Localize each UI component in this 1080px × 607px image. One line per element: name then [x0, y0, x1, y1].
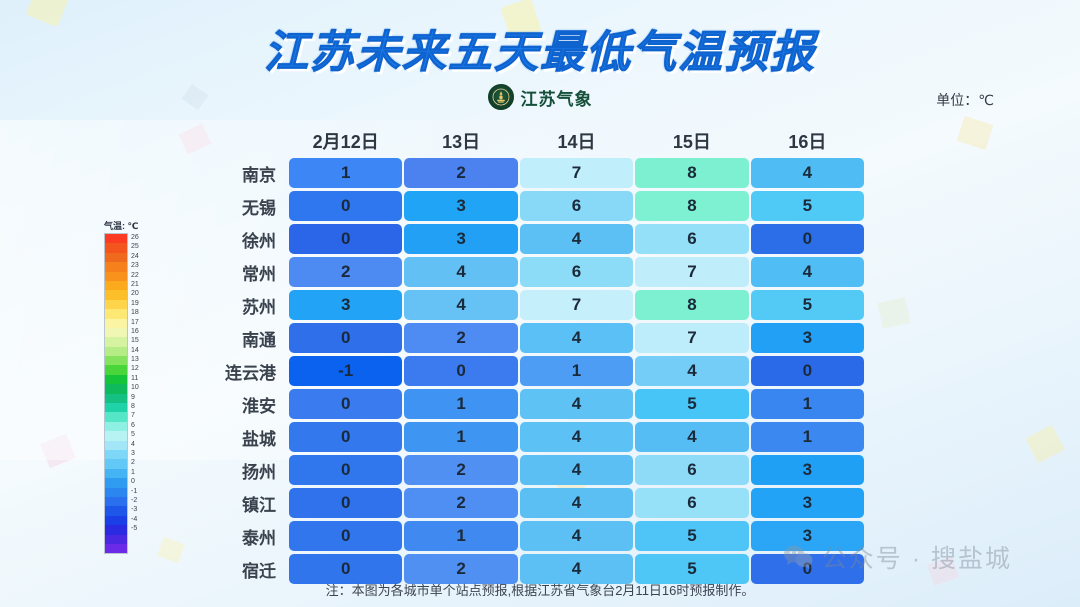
- table-row: 泰州01453: [195, 520, 865, 552]
- temperature-cell: 5: [751, 191, 864, 221]
- temperature-cell: 1: [404, 422, 517, 452]
- temperature-cell: 4: [404, 290, 517, 320]
- table-row: 徐州03460: [195, 223, 865, 255]
- colorbar-swatch: [105, 459, 127, 468]
- city-label: 宿迁: [195, 557, 288, 582]
- temperature-cell: 5: [635, 389, 748, 419]
- wechat-icon: [783, 544, 813, 570]
- colorbar-swatch: [105, 290, 127, 299]
- colorbar-swatch: [105, 253, 127, 262]
- temperature-cell: 0: [404, 356, 517, 386]
- page-title: 江苏未来五天最低气温预报: [0, 16, 1080, 80]
- colorbar-swatch: [105, 525, 127, 534]
- colorbar-tick-label: 17: [131, 318, 139, 327]
- temperature-cell: 2: [404, 158, 517, 188]
- colorbar-tick-label: 18: [131, 308, 139, 317]
- column-header: 14日: [519, 128, 634, 154]
- temperature-cell: 0: [751, 224, 864, 254]
- city-label: 苏州: [195, 293, 288, 318]
- temperature-cell: 2: [404, 488, 517, 518]
- colorbar-tick-label: 8: [131, 402, 139, 411]
- colorbar-tick-label: 3: [131, 449, 139, 458]
- colorbar-swatch: [105, 535, 127, 544]
- colorbar-swatch: [105, 243, 127, 252]
- colorbar-tick-label: 2: [131, 458, 139, 467]
- temperature-cell: 7: [520, 158, 633, 188]
- temperature-cell: 6: [635, 488, 748, 518]
- temperature-cell: 1: [520, 356, 633, 386]
- watermark-text: 公众号 · 搜盐城: [822, 539, 1012, 575]
- temperature-cell: 4: [520, 389, 633, 419]
- weather-bureau-emblem-icon: [488, 84, 514, 110]
- table-row: 苏州34785: [195, 289, 865, 321]
- colorbar-ticks: 2625242322212019181716151413121110987654…: [128, 233, 139, 554]
- colorbar-tick-label: 9: [131, 393, 139, 402]
- colorbar-tick-label: -4: [131, 515, 139, 524]
- temperature-cell: 6: [635, 455, 748, 485]
- colorbar-swatch: [105, 300, 127, 309]
- temperature-cell: 4: [520, 521, 633, 551]
- colorbar-swatch: [105, 234, 127, 243]
- colorbar-tick-label: 11: [131, 374, 139, 383]
- table-row: 南通02473: [195, 322, 865, 354]
- forecast-table: 2月12日 13日 14日 15日 16日 南京12784无锡03685徐州03…: [195, 125, 865, 586]
- temperature-cell: 0: [751, 356, 864, 386]
- table-row: 镇江02463: [195, 487, 865, 519]
- city-label: 徐州: [195, 227, 288, 252]
- colorbar-swatch: [105, 431, 127, 440]
- colorbar-swatch: [105, 544, 127, 553]
- temperature-cell: 1: [751, 389, 864, 419]
- temperature-cell: 1: [289, 158, 402, 188]
- city-label: 扬州: [195, 458, 288, 483]
- temperature-cell: 6: [635, 224, 748, 254]
- colorbar-swatch: [105, 403, 127, 412]
- colorbar-swatch: [105, 337, 127, 346]
- column-header: 2月12日: [288, 128, 403, 154]
- temperature-cell: 4: [520, 224, 633, 254]
- table-row: 南京12784: [195, 157, 865, 189]
- temperature-cell: 0: [289, 521, 402, 551]
- colorbar-tick-label: 12: [131, 364, 139, 373]
- temperature-cell: 4: [404, 257, 517, 287]
- temperature-cell: 8: [635, 158, 748, 188]
- city-label: 常州: [195, 260, 288, 285]
- colorbar-tick-label: -5: [131, 524, 139, 533]
- confetti-shape: [40, 434, 76, 469]
- watermark: 公众号 · 搜盐城: [783, 539, 1012, 575]
- table-row: 连云港-10140: [195, 355, 865, 387]
- temperature-cell: 4: [520, 422, 633, 452]
- colorbar-tick-label: 25: [131, 242, 139, 251]
- colorbar-swatch: [105, 384, 127, 393]
- column-header: 13日: [403, 128, 518, 154]
- colorbar-swatch: [105, 356, 127, 365]
- colorbar-swatch: [105, 506, 127, 515]
- colorbar-swatch: [105, 450, 127, 459]
- colorbar-swatch: [105, 516, 127, 525]
- column-header: 16日: [750, 128, 865, 154]
- city-label: 盐城: [195, 425, 288, 450]
- brand-block: 江苏气象: [0, 84, 1080, 110]
- colorbar-swatch: [105, 497, 127, 506]
- colorbar-tick-label: 23: [131, 261, 139, 270]
- colorbar-gradient: [104, 233, 128, 554]
- temperature-cell: 8: [635, 191, 748, 221]
- footer-note: 注：本图为各城市单个站点预报,根据江苏省气象台2月11日16时预报制作。: [0, 580, 1080, 599]
- colorbar-tick-label: 16: [131, 327, 139, 336]
- colorbar-swatch: [105, 272, 127, 281]
- table-row: 盐城01441: [195, 421, 865, 453]
- temperature-cell: 1: [404, 389, 517, 419]
- colorbar-tick-label: 14: [131, 346, 139, 355]
- confetti-shape: [878, 297, 911, 328]
- temperature-cell: 0: [289, 389, 402, 419]
- colorbar-tick-label: 26: [131, 233, 139, 242]
- temperature-cell: 8: [635, 290, 748, 320]
- temperature-cell: 1: [751, 422, 864, 452]
- temperature-cell: 3: [404, 191, 517, 221]
- colorbar-tick-label: 4: [131, 440, 139, 449]
- colorbar-tick-label: 20: [131, 289, 139, 298]
- table-row: 无锡03685: [195, 190, 865, 222]
- temperature-colorbar: 气温: ℃ 2625242322212019181716151413121110…: [104, 219, 158, 554]
- table-row: 淮安01451: [195, 388, 865, 420]
- colorbar-tick-label: 19: [131, 299, 139, 308]
- colorbar-tick-label: 7: [131, 411, 139, 420]
- colorbar-swatch: [105, 328, 127, 337]
- colorbar-tick-label: -3: [131, 505, 139, 514]
- table-row: 常州24674: [195, 256, 865, 288]
- temperature-cell: 3: [751, 455, 864, 485]
- temperature-cell: -1: [289, 356, 402, 386]
- colorbar-swatch: [105, 281, 127, 290]
- temperature-cell: 7: [520, 290, 633, 320]
- temperature-cell: 0: [289, 323, 402, 353]
- colorbar-title: 气温: ℃: [104, 219, 158, 232]
- temperature-cell: 4: [751, 257, 864, 287]
- temperature-cell: 2: [404, 455, 517, 485]
- city-label: 无锡: [195, 194, 288, 219]
- temperature-cell: 4: [635, 422, 748, 452]
- temperature-cell: 0: [289, 422, 402, 452]
- city-label: 南京: [195, 161, 288, 186]
- city-label: 镇江: [195, 491, 288, 516]
- city-label: 泰州: [195, 524, 288, 549]
- city-label: 连云港: [195, 359, 288, 384]
- city-label: 淮安: [195, 392, 288, 417]
- temperature-cell: 7: [635, 323, 748, 353]
- colorbar-tick-label: 13: [131, 355, 139, 364]
- temperature-cell: 3: [751, 488, 864, 518]
- temperature-cell: 6: [520, 191, 633, 221]
- colorbar-swatch: [105, 347, 127, 356]
- colorbar-tick-label: -2: [131, 496, 139, 505]
- colorbar-tick-label: 10: [131, 383, 139, 392]
- colorbar-tick-label: 15: [131, 336, 139, 345]
- temperature-cell: 2: [404, 323, 517, 353]
- temperature-cell: 3: [289, 290, 402, 320]
- confetti-shape: [1025, 425, 1065, 464]
- colorbar-tick-label: -1: [131, 487, 139, 496]
- colorbar-tick-label: 22: [131, 271, 139, 280]
- temperature-cell: 0: [289, 488, 402, 518]
- colorbar-tick-label: 0: [131, 477, 139, 486]
- temperature-cell: 5: [635, 521, 748, 551]
- table-header-row: 2月12日 13日 14日 15日 16日: [195, 125, 865, 157]
- temperature-cell: 0: [289, 191, 402, 221]
- temperature-cell: 0: [289, 455, 402, 485]
- colorbar-tick-label: 6: [131, 421, 139, 430]
- brand-name: 江苏气象: [521, 85, 593, 110]
- temperature-cell: 2: [289, 257, 402, 287]
- temperature-cell: 4: [751, 158, 864, 188]
- temperature-cell: 4: [520, 455, 633, 485]
- colorbar-swatch: [105, 441, 127, 450]
- confetti-shape: [957, 116, 994, 150]
- colorbar-swatch: [105, 412, 127, 421]
- colorbar-tick-label: 1: [131, 468, 139, 477]
- temperature-cell: 6: [520, 257, 633, 287]
- temperature-cell: 3: [751, 323, 864, 353]
- colorbar-swatch: [105, 309, 127, 318]
- temperature-cell: 3: [404, 224, 517, 254]
- table-row: 扬州02463: [195, 454, 865, 486]
- colorbar-swatch: [105, 365, 127, 374]
- temperature-cell: 1: [404, 521, 517, 551]
- city-label: 南通: [195, 326, 288, 351]
- temperature-cell: 0: [289, 224, 402, 254]
- colorbar-swatch: [105, 488, 127, 497]
- colorbar-swatch: [105, 478, 127, 487]
- temperature-cell: 4: [635, 356, 748, 386]
- colorbar-tick-label: 21: [131, 280, 139, 289]
- temperature-cell: 4: [520, 323, 633, 353]
- colorbar-swatch: [105, 394, 127, 403]
- colorbar-swatch: [105, 375, 127, 384]
- column-header: 15日: [634, 128, 749, 154]
- temperature-cell: 4: [520, 488, 633, 518]
- temperature-cell: 7: [635, 257, 748, 287]
- confetti-shape: [157, 537, 185, 563]
- colorbar-swatch: [105, 262, 127, 271]
- unit-label: 单位：℃: [936, 90, 994, 110]
- temperature-cell: 5: [751, 290, 864, 320]
- colorbar-tick-label: 5: [131, 430, 139, 439]
- colorbar-swatch: [105, 422, 127, 431]
- colorbar-tick-label: 24: [131, 252, 139, 261]
- colorbar-swatch: [105, 469, 127, 478]
- colorbar-swatch: [105, 319, 127, 328]
